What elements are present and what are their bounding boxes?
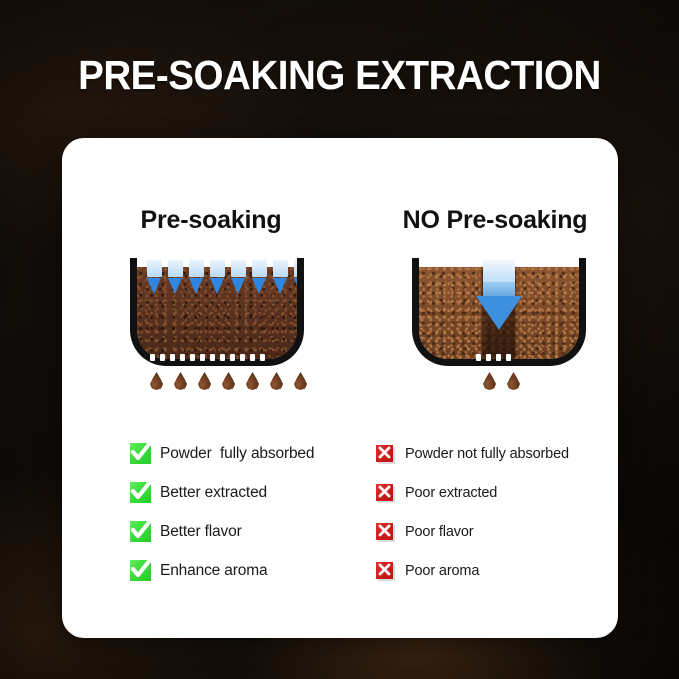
coffee-drip-icon (483, 372, 496, 390)
column-heading-no-pre-soaking: NO Pre-soaking (356, 206, 634, 235)
coffee-drips-left (150, 372, 307, 390)
column-heading-pre-soaking: Pre-soaking (72, 206, 350, 235)
check-icon (130, 560, 151, 581)
coffee-drip-icon (246, 372, 259, 390)
check-icon (130, 443, 151, 464)
list-item-label: Better flavor (160, 523, 242, 541)
check-icon (130, 521, 151, 542)
water-jet-icon (252, 260, 267, 294)
list-item-label: Powder not fully absorbed (405, 446, 569, 462)
coffee-basket-left (130, 258, 304, 366)
coffee-drip-icon (198, 372, 211, 390)
list-item: Poor extracted (340, 473, 618, 512)
water-jet-icon (210, 260, 225, 294)
list-item: Better flavor (62, 512, 340, 551)
water-jet-icon (168, 260, 183, 294)
x-icon (376, 523, 393, 540)
water-jet-icon (147, 260, 162, 294)
coffee-drip-icon (270, 372, 283, 390)
list-item: Powder not fully absorbed (340, 434, 618, 473)
coffee-basket-right (412, 258, 586, 366)
diagram-pre-soaking (124, 258, 310, 403)
water-jets-group (147, 260, 287, 306)
list-item-label: Better extracted (160, 484, 267, 502)
list-item: Enhance aroma (62, 551, 340, 590)
water-jet-icon (294, 260, 304, 294)
list-item-label: Poor aroma (405, 563, 479, 579)
coffee-drip-icon (174, 372, 187, 390)
drawback-list-no-pre-soaking: Powder not fully absorbed Poor extracted… (340, 434, 618, 590)
basket-holes-right (476, 354, 511, 361)
list-item-label: Poor extracted (405, 485, 497, 501)
comparison-columns: Pre-soaking (62, 138, 618, 638)
benefit-list-pre-soaking: Powder fully absorbed Better extracted B… (62, 434, 340, 590)
water-jet-large-icon (476, 260, 522, 330)
list-item-label: Powder fully absorbed (160, 445, 314, 463)
water-jet-icon (231, 260, 246, 294)
coffee-drip-icon (150, 372, 163, 390)
basket-holes-left (150, 354, 265, 361)
diagram-no-pre-soaking (406, 258, 592, 403)
content-card: Pre-soaking (62, 138, 618, 638)
coffee-drips-right (483, 372, 520, 390)
check-icon (130, 482, 151, 503)
coffee-drip-icon (222, 372, 235, 390)
infographic-page: PRE-SOAKING EXTRACTION Pre-soaking (0, 0, 679, 679)
column-no-pre-soaking: NO Pre-soaking (340, 138, 618, 638)
list-item: Powder fully absorbed (62, 434, 340, 473)
coffee-drip-icon (507, 372, 520, 390)
column-pre-soaking: Pre-soaking (62, 138, 340, 638)
water-jet-icon (189, 260, 204, 294)
list-item: Poor aroma (340, 551, 618, 590)
x-icon (376, 484, 393, 501)
list-item: Better extracted (62, 473, 340, 512)
coffee-drip-icon (294, 372, 307, 390)
page-title: PRE-SOAKING EXTRACTION (20, 52, 658, 99)
x-icon (376, 562, 393, 579)
x-icon (376, 445, 393, 462)
list-item-label: Enhance aroma (160, 562, 267, 580)
list-item-label: Poor flavor (405, 524, 473, 540)
water-jet-icon (273, 260, 288, 294)
list-item: Poor flavor (340, 512, 618, 551)
